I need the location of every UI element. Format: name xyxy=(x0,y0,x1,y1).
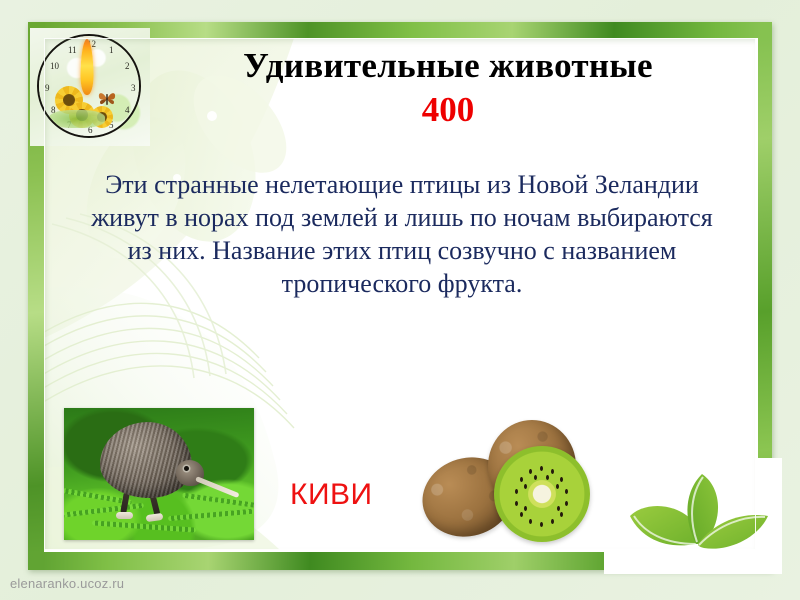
slide-canvas: 12 1 2 3 4 5 6 7 8 9 10 11 xyxy=(44,38,756,550)
bird-foot xyxy=(116,512,133,519)
green-leaves-logo xyxy=(604,458,782,574)
clock-numeral: 2 xyxy=(125,62,130,71)
answer-label: КИВИ xyxy=(290,478,373,512)
presentation-slide: 12 1 2 3 4 5 6 7 8 9 10 11 xyxy=(0,0,800,600)
clock-numeral: 11 xyxy=(68,46,77,55)
question-text: Эти странные нелетающие птицы из Новой З… xyxy=(84,168,720,300)
kiwi-fruit-halved xyxy=(494,446,590,542)
clock-numeral: 1 xyxy=(109,46,114,55)
clock-numeral: 9 xyxy=(45,84,50,93)
kiwi-fruit-photo xyxy=(416,406,598,552)
clock-image: 12 1 2 3 4 5 6 7 8 9 10 11 xyxy=(30,28,150,146)
page-title: Удивительные животные xyxy=(148,46,748,86)
clock-numeral: 4 xyxy=(125,106,130,115)
clock-face: 12 1 2 3 4 5 6 7 8 9 10 11 xyxy=(37,34,141,138)
score-value: 400 xyxy=(148,90,748,130)
clock-numeral: 3 xyxy=(131,84,136,93)
clock-numeral: 10 xyxy=(50,62,59,71)
bird-eye-icon xyxy=(184,466,189,471)
kiwi-seeds xyxy=(494,446,590,542)
bird-body xyxy=(100,422,192,498)
kiwi-bird-photo xyxy=(64,408,254,540)
site-watermark: elenaranko.ucoz.ru xyxy=(10,576,124,591)
butterfly-icon xyxy=(97,90,117,108)
